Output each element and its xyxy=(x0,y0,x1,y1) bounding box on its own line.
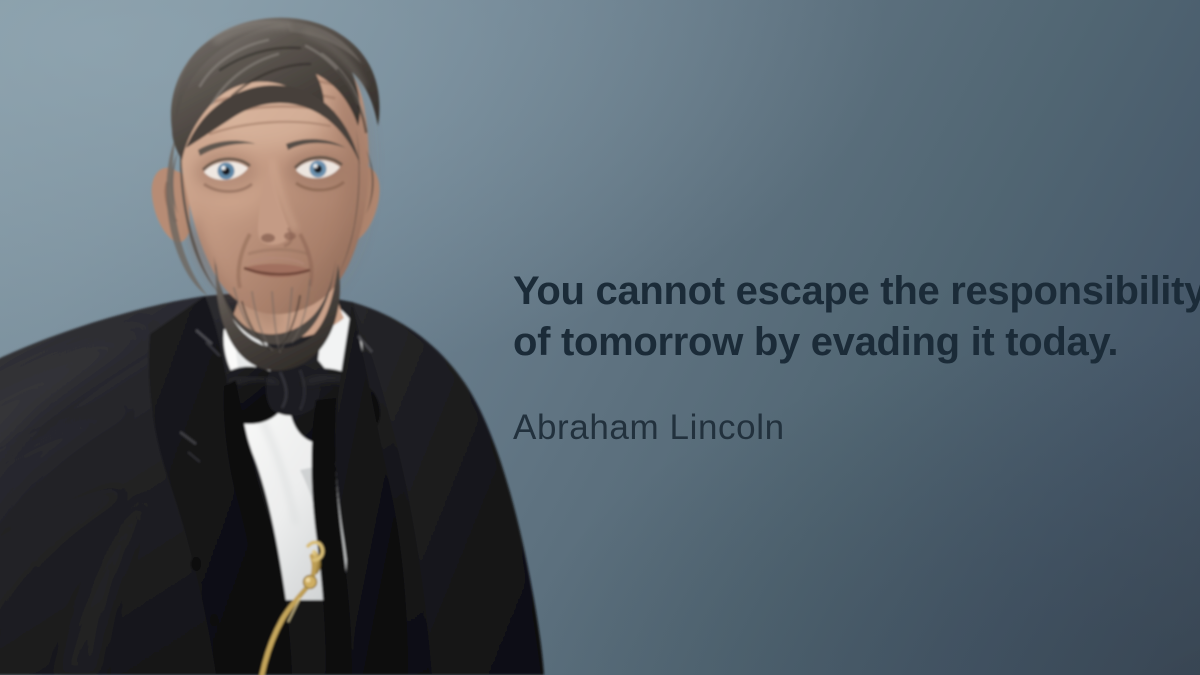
portrait-abraham-lincoln xyxy=(0,0,560,675)
quote-line-2: of tomorrow by evading it today. xyxy=(513,317,1200,368)
quote-card: You cannot escape the responsibility of … xyxy=(0,0,1200,675)
quote-text: You cannot escape the responsibility of … xyxy=(513,266,1200,368)
quote-text-block: You cannot escape the responsibility of … xyxy=(513,266,1200,368)
quote-line-1: You cannot escape the responsibility xyxy=(513,266,1200,317)
quote-attribution: Abraham Lincoln xyxy=(513,407,785,449)
